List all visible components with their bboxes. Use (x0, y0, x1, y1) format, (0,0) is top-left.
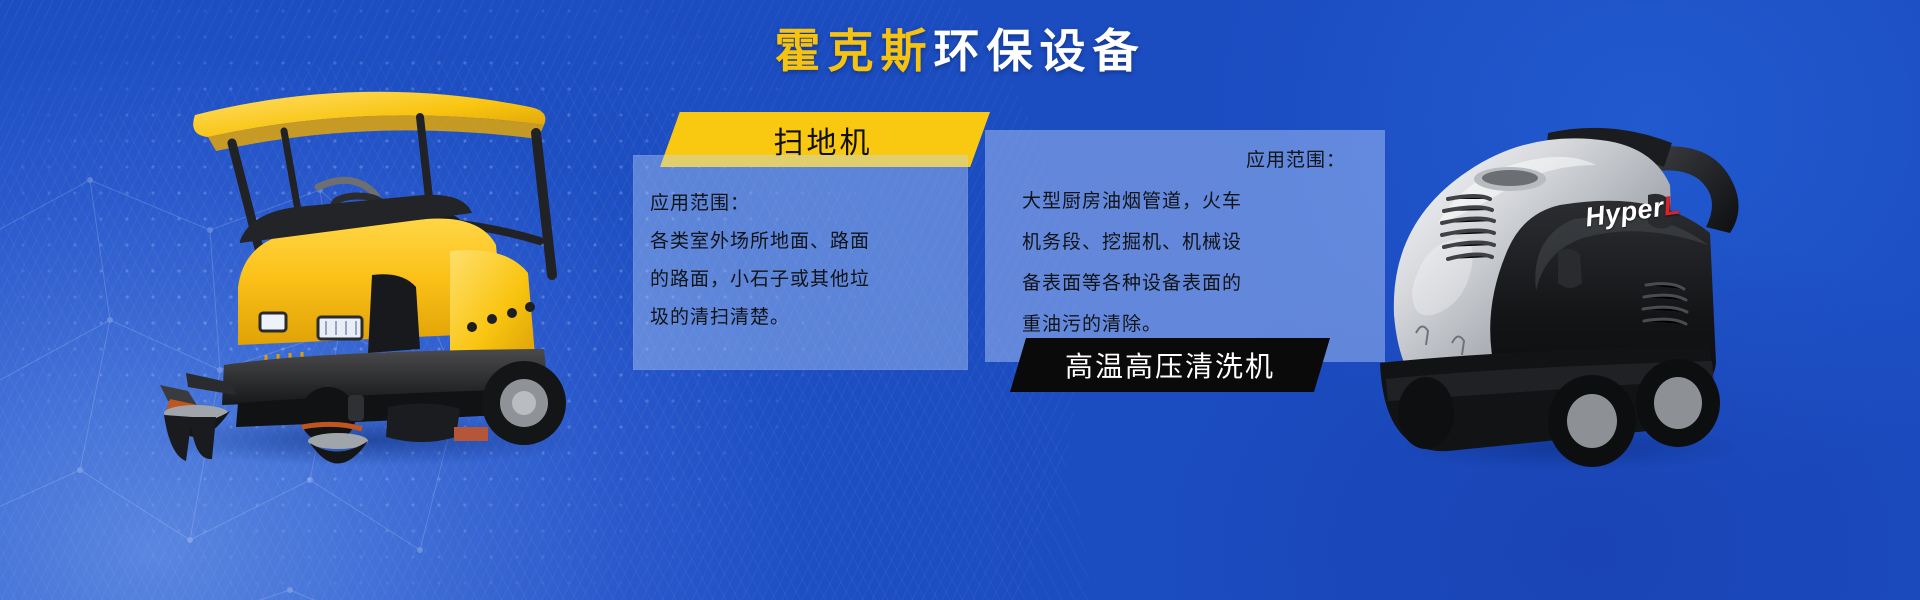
washer-desc-line-2: 机务段、挖掘机、机械设 (1022, 222, 1362, 263)
sweeper-desc-line-3: 圾的清扫清楚。 (650, 299, 950, 337)
washer-desc-line-3: 备表面等各种设备表面的 (1022, 263, 1362, 304)
promo-banner: 霍克斯环保设备 (0, 0, 1920, 600)
road-sweeper-image (120, 55, 600, 465)
washer-description: 应用范围： 大型厨房油烟管道，火车 机务段、挖掘机、机械设 备表面等各种设备表面… (1022, 140, 1362, 345)
sweeper-description: 应用范围： 各类室外场所地面、路面 的路面，小石子或其他垃 圾的清扫清楚。 (650, 185, 950, 337)
washer-desc-heading: 应用范围： (1022, 140, 1362, 181)
washer-desc-line-1: 大型厨房油烟管道，火车 (1022, 181, 1362, 222)
sweeper-desc-line-2: 的路面，小石子或其他垃 (650, 261, 950, 299)
headline-category-text: 环保设备 (934, 25, 1146, 77)
sweeper-desc-line-1: 各类室外场所地面、路面 (650, 223, 950, 261)
headline-brand-text: 霍克斯 (775, 25, 934, 77)
sweeper-desc-heading: 应用范围： (650, 185, 950, 223)
washer-tag-label: 高温高压清洗机 (1010, 338, 1330, 392)
pressure-washer-image (1360, 95, 1770, 475)
